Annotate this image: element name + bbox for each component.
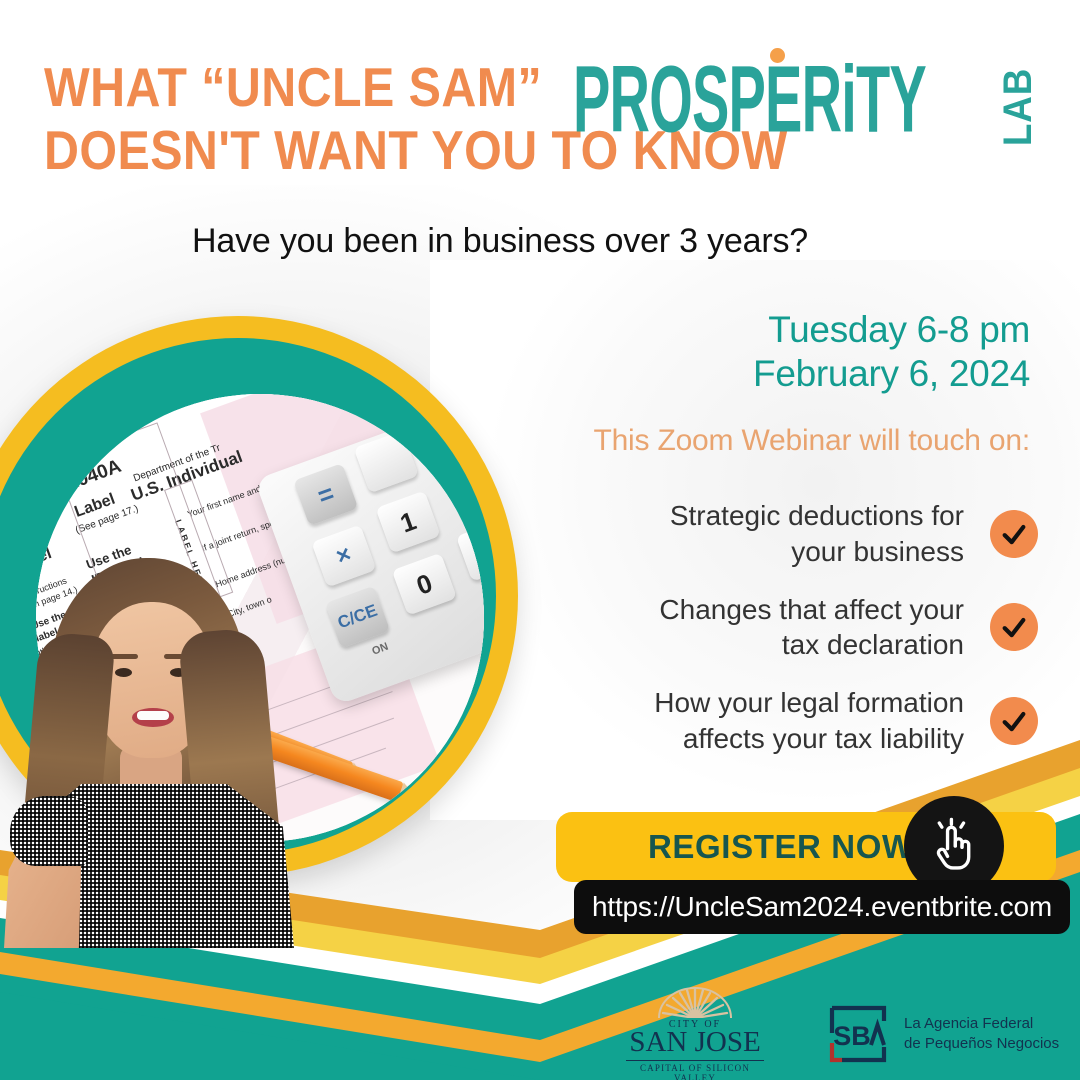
presenter-teeth <box>137 711 169 720</box>
webinar-intro-text: This Zoom Webinar will touch on: <box>593 424 1030 458</box>
presenter-photo <box>8 548 300 946</box>
list-item: How your legal formation affects your ta… <box>518 685 1038 757</box>
logo-dot-icon <box>770 48 785 63</box>
event-date: February 6, 2024 <box>753 352 1030 396</box>
register-now-label: REGISTER NOW <box>648 828 914 866</box>
calculator-key-blank-1 <box>354 430 419 493</box>
san-jose-name-text: SAN JOSE <box>620 1028 770 1057</box>
registration-url-bar[interactable]: https://UncleSam2024.eventbrite.com <box>574 880 1070 934</box>
topic-text: Strategic deductions for your business <box>670 498 964 570</box>
topic-text: Changes that affect your tax declaration <box>659 592 964 664</box>
san-jose-rule <box>626 1060 764 1061</box>
calculator-key-multiply: × <box>311 525 376 588</box>
sba-tagline: La Agencia Federal de Pequeños Negocios <box>904 1014 1059 1054</box>
sba-mark-icon: SB <box>814 1003 890 1065</box>
presenter-shoulder <box>10 796 88 866</box>
list-item: Changes that affect your tax declaration <box>518 592 1038 664</box>
check-icon <box>990 510 1038 558</box>
city-of-san-jose-logo: CITY OF SAN JOSE CAPITAL OF SILICON VALL… <box>620 986 770 1080</box>
check-icon <box>990 697 1038 745</box>
presenter-eye-left <box>115 668 132 677</box>
sunburst-icon <box>653 986 737 1018</box>
topic-text: How your legal formation affects your ta… <box>654 685 964 757</box>
list-item: Strategic deductions for your business <box>518 498 1038 570</box>
calculator-key-one: 1 <box>375 491 440 554</box>
event-time: Tuesday 6-8 pm <box>753 308 1030 352</box>
presenter-brow-left <box>110 654 138 659</box>
event-datetime: Tuesday 6-8 pm February 6, 2024 <box>753 308 1030 395</box>
flyer-canvas: WHAT “UNCLE SAM” DOESN'T WANT YOU TO KNO… <box>0 0 1080 1080</box>
calculator-key-equals: = <box>293 463 358 526</box>
sba-logo: SB La Agencia Federal de Pequeños Negoci… <box>814 1003 1059 1065</box>
svg-text:SB: SB <box>833 1021 871 1051</box>
san-jose-tagline: CAPITAL OF SILICON VALLEY <box>620 1063 770 1080</box>
register-now-button[interactable]: REGISTER NOW <box>556 812 1056 882</box>
partner-logos: CITY OF SAN JOSE CAPITAL OF SILICON VALL… <box>620 988 1080 1080</box>
subheadline: Have you been in business over 3 years? <box>0 222 1000 261</box>
prosperity-lab-logo: PROSPERiTY LAB <box>573 52 1038 150</box>
registration-url: https://UncleSam2024.eventbrite.com <box>592 891 1052 923</box>
logo-wordmark: PROSPERiTY <box>573 52 926 147</box>
calculator-key-blank-2 <box>456 519 484 582</box>
logo-lab-text: LAB <box>998 58 1038 146</box>
check-icon <box>990 603 1038 651</box>
topic-list: Strategic deductions for your business C… <box>518 498 1038 779</box>
